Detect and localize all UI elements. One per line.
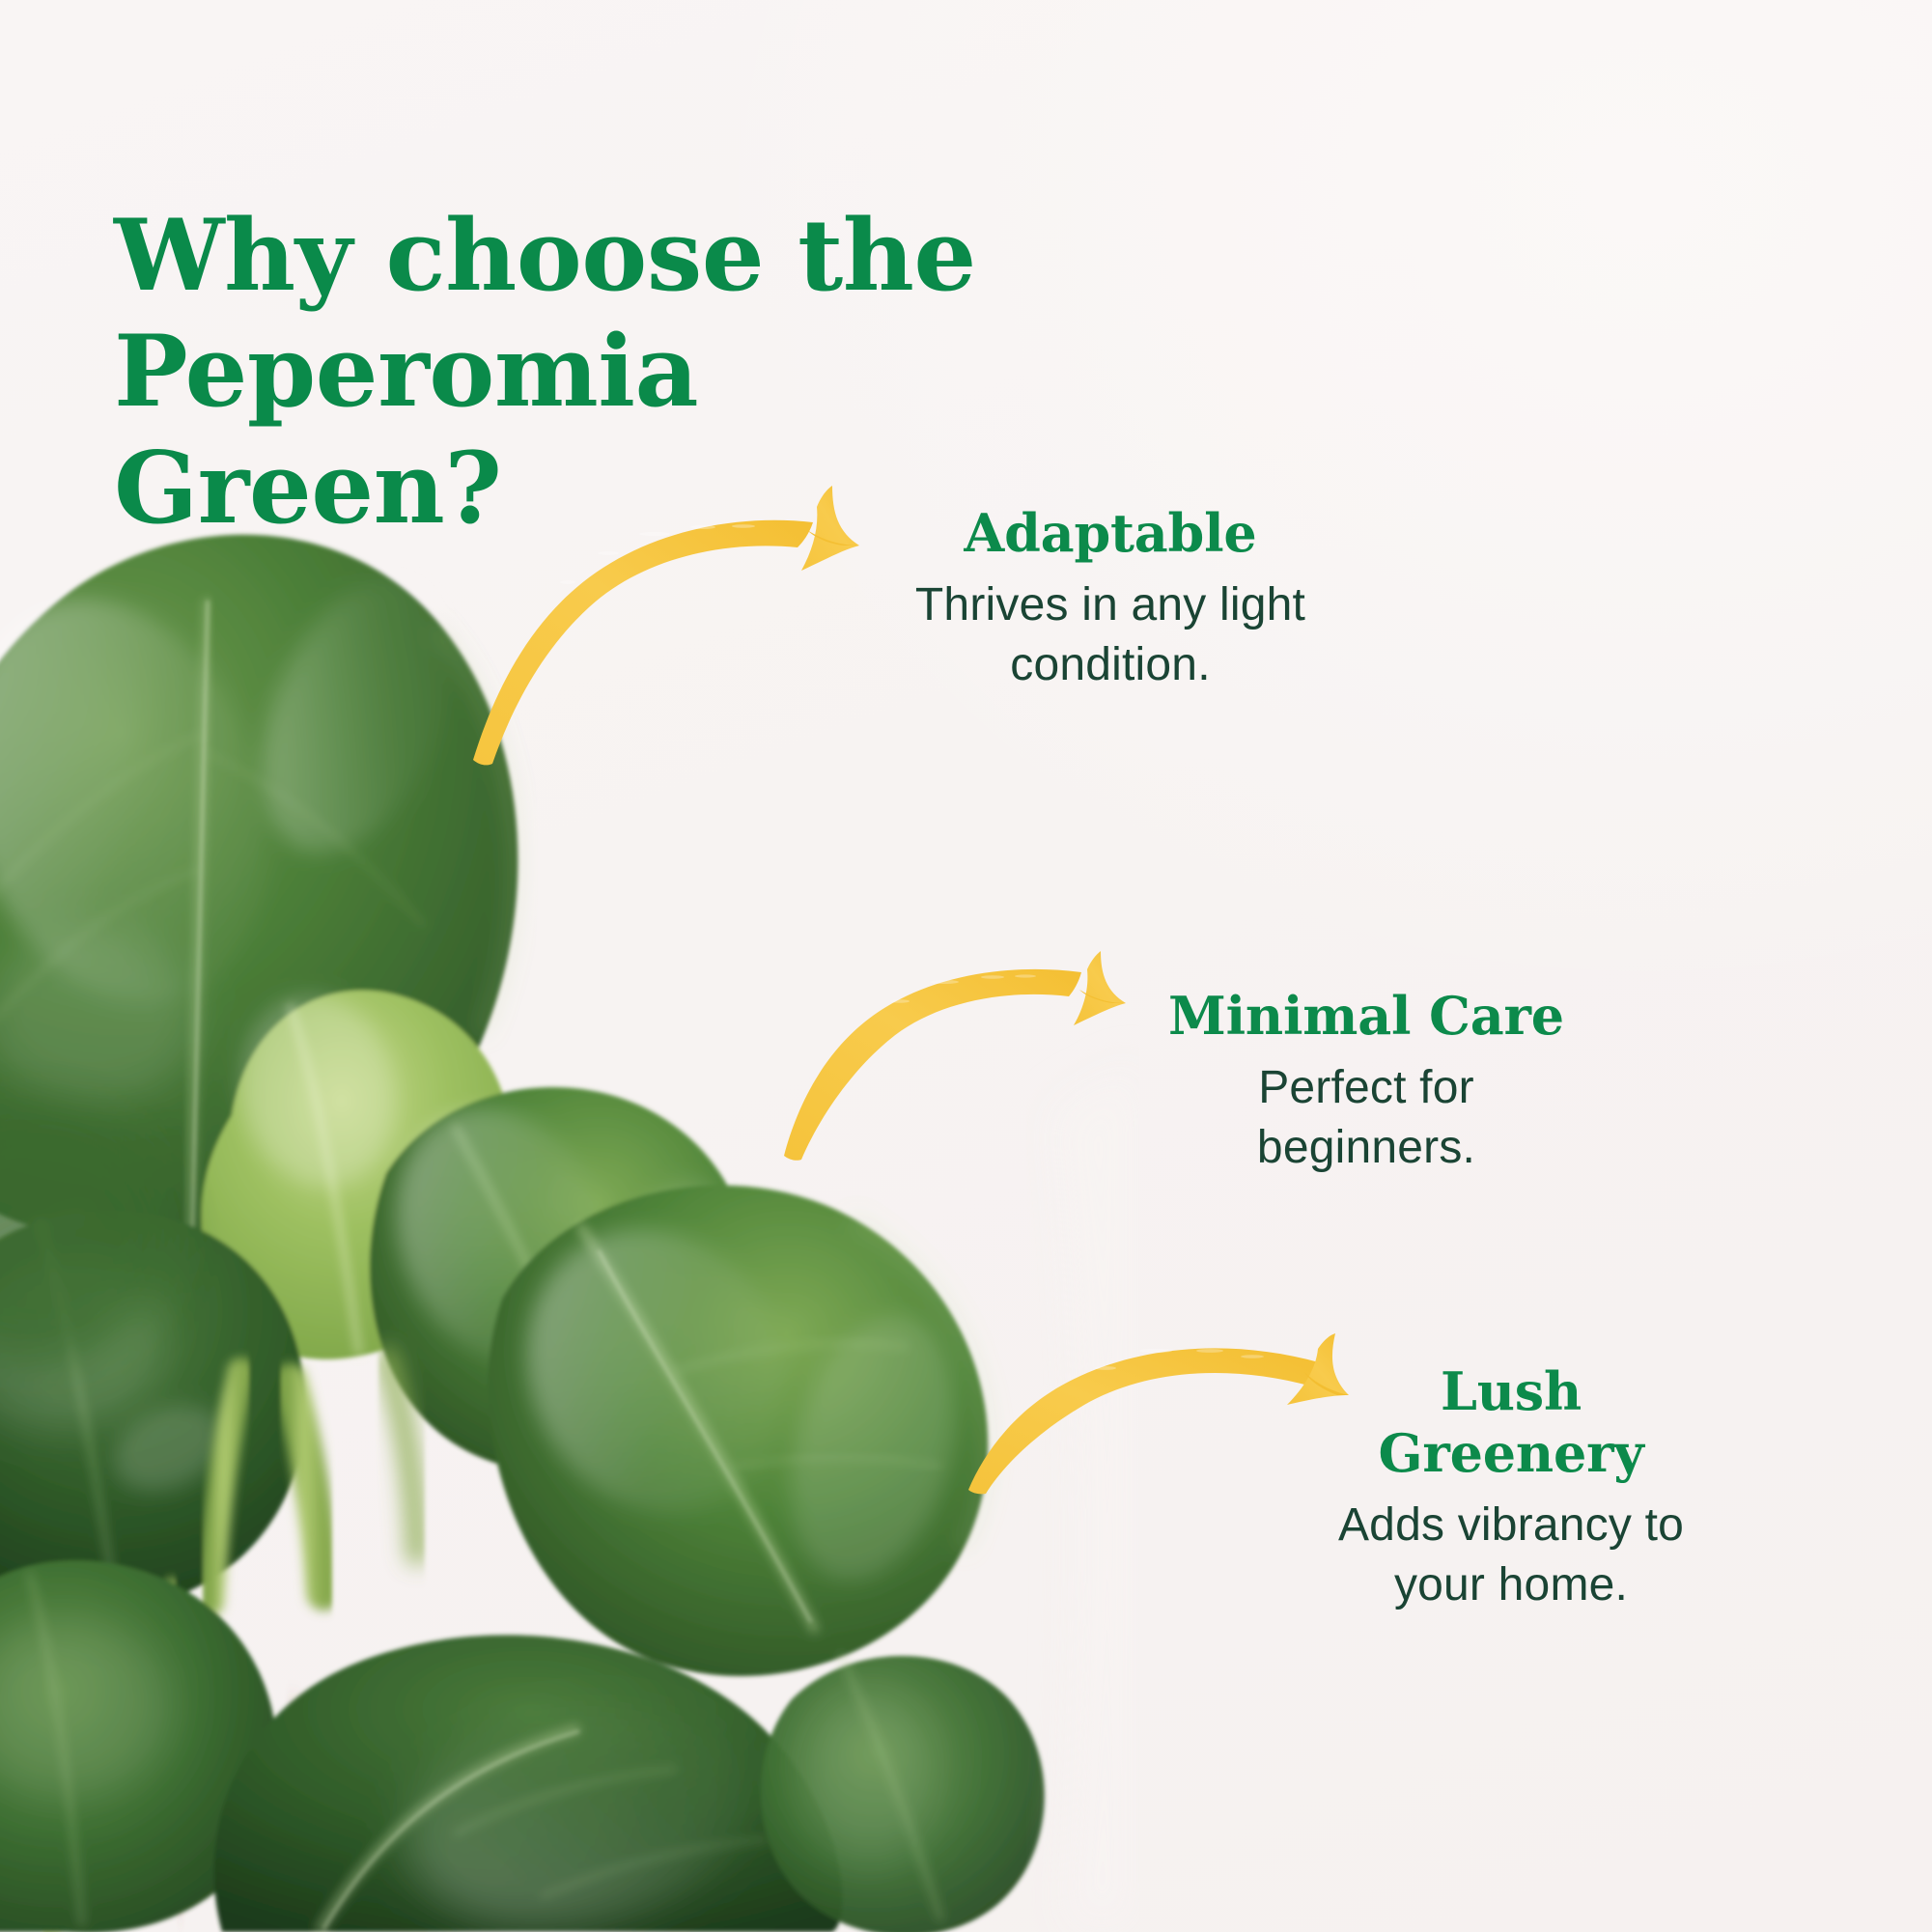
callout-adaptable-body-line-1: Thrives in any light [850, 575, 1371, 634]
callout-adaptable-body: Thrives in any light condition. [850, 575, 1371, 694]
callout-adaptable-title: Adaptable [850, 504, 1371, 562]
callout-minimal-care: Minimal Care Perfect for beginners. [1106, 987, 1627, 1177]
callout-minimal-care-body: Perfect for beginners. [1106, 1058, 1627, 1177]
callout-lush-greenery-body-line-1: Adds vibrancy to [1284, 1496, 1738, 1554]
callout-minimal-care-title: Minimal Care [1106, 987, 1627, 1045]
callout-lush-greenery-body-line-2: your home. [1284, 1555, 1738, 1614]
callout-lush-greenery-body: Adds vibrancy to your home. [1284, 1496, 1738, 1614]
poster-canvas: Why choose the Peperomia Green? [0, 0, 1932, 1932]
callout-minimal-care-body-line-1: Perfect for [1106, 1058, 1627, 1117]
callout-adaptable-body-line-2: condition. [850, 635, 1371, 694]
leaf-bottom-center [213, 1635, 842, 1932]
callout-lush-greenery: Lush Greenery Adds vibrancy to your home… [1284, 1361, 1738, 1614]
callout-adaptable: Adaptable Thrives in any light condition… [850, 504, 1371, 694]
callout-lush-greenery-title: Lush Greenery [1284, 1361, 1738, 1484]
callout-lush-greenery-title-line-2: Greenery [1284, 1423, 1738, 1485]
callout-minimal-care-body-line-2: beginners. [1106, 1118, 1627, 1177]
page-title-line-1: Why choose the Peperomia [114, 198, 1562, 431]
page-title: Why choose the Peperomia Green? [114, 198, 1562, 546]
callout-lush-greenery-title-line-1: Lush [1284, 1361, 1738, 1423]
leaf-right-large [482, 1186, 989, 1676]
